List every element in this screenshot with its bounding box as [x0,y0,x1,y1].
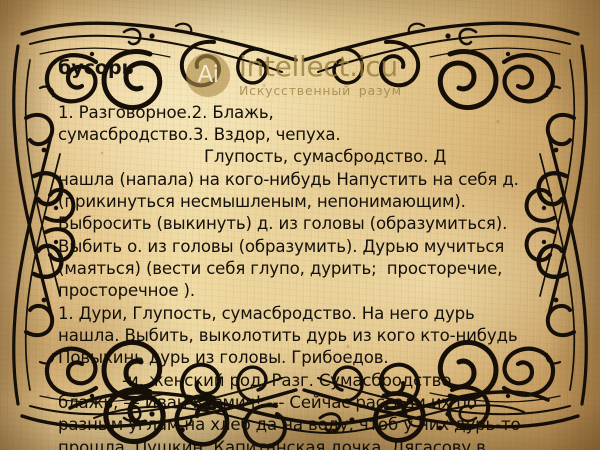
definition-line: Выбросить (выкинуть) д. из головы (образ… [58,213,592,235]
entry-title: бусорь [58,58,592,80]
definition-line: сумасбродство.3. Вздор, чепуха. [58,124,592,146]
definition-line: (маяться) (вести себя глупо, дурить; про… [58,258,592,280]
definition-line: прошла. Пушкин, Капитанская дочка. Дягас… [58,437,592,450]
definition-line: блажь, — Иван Кузмич! --- Сейчас рассади… [58,392,592,414]
definition-line: нашла (напала) на кого-нибудь Напустить … [58,169,592,191]
definition-line: разным углам на хлеб да на воду, чтоб у … [58,414,592,436]
definition-line: 1. Дури, Глупость, сумасбродство. На нег… [58,303,592,325]
definition-line: Глупость, сумасбродство. Д [58,146,592,168]
definition-line: Выбить о. из головы (образумить). Дурью … [58,236,592,258]
definition-line: (прикинуться несмышленым, непонимающим). [58,191,592,213]
definition-line: 1. Разговорное.2. Блажь, [58,102,592,124]
definition-line: нашла. Выбить, выколотить дурь из кого к… [58,325,592,347]
definition-line: -и, женский род Разг. Сумасбродство, [58,370,592,392]
dictionary-slide: Ai intellect.icu Искусственный разум бус… [0,0,600,450]
definition-line: Повыкинь дурь из головы. Грибоедов. [58,347,592,369]
slide-content: бусорь 1. Разговорное.2. Блажь,сумасброд… [58,58,592,450]
definition-line: просторечное ). [58,280,592,302]
definition-text: 1. Разговорное.2. Блажь,сумасбродство.3.… [58,102,592,450]
